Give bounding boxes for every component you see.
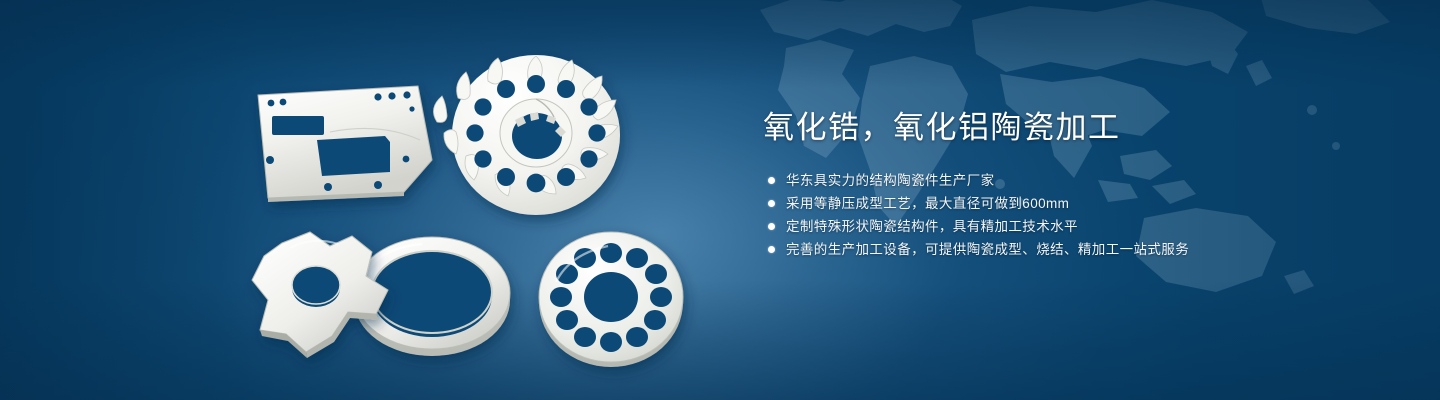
list-item-label: 采用等静压成型工艺，最大直径可做到600mm [786,192,1069,215]
ceramic-perforated-disc [539,232,683,367]
page-title: 氧化锆，氧化铝陶瓷加工 [763,108,1383,148]
ceramic-impeller [433,55,620,215]
list-item: 华东具实力的结构陶瓷件生产厂家 [763,169,1383,192]
list-item: 采用等静压成型工艺，最大直径可做到600mm [763,192,1383,215]
bullet-dot-icon [768,223,775,230]
bullet-dot-icon [768,200,775,207]
list-item-label: 华东具实力的结构陶瓷件生产厂家 [786,169,995,192]
list-item-label: 完善的生产加工设备，可提供陶瓷成型、烧结、精加工一站式服务 [786,238,1189,261]
bullet-dot-icon [768,177,775,184]
list-item: 完善的生产加工设备，可提供陶瓷成型、烧结、精加工一站式服务 [763,238,1383,261]
ceramic-products-photo [0,0,740,400]
banner-copy: 氧化锆，氧化铝陶瓷加工 华东具实力的结构陶瓷件生产厂家 采用等静压成型工艺，最大… [763,108,1383,277]
bullet-dot-icon [768,246,775,253]
ceramic-cross-part [252,232,388,358]
list-item-label: 定制特殊形状陶瓷结构件，具有精加工技术水平 [786,215,1078,238]
list-item: 定制特殊形状陶瓷结构件，具有精加工技术水平 [763,215,1383,238]
ceramic-plate [258,86,432,202]
feature-list: 华东具实力的结构陶瓷件生产厂家 采用等静压成型工艺，最大直径可做到600mm 定… [763,169,1383,261]
promo-banner: 氧化锆，氧化铝陶瓷加工 华东具实力的结构陶瓷件生产厂家 采用等静压成型工艺，最大… [0,0,1440,400]
